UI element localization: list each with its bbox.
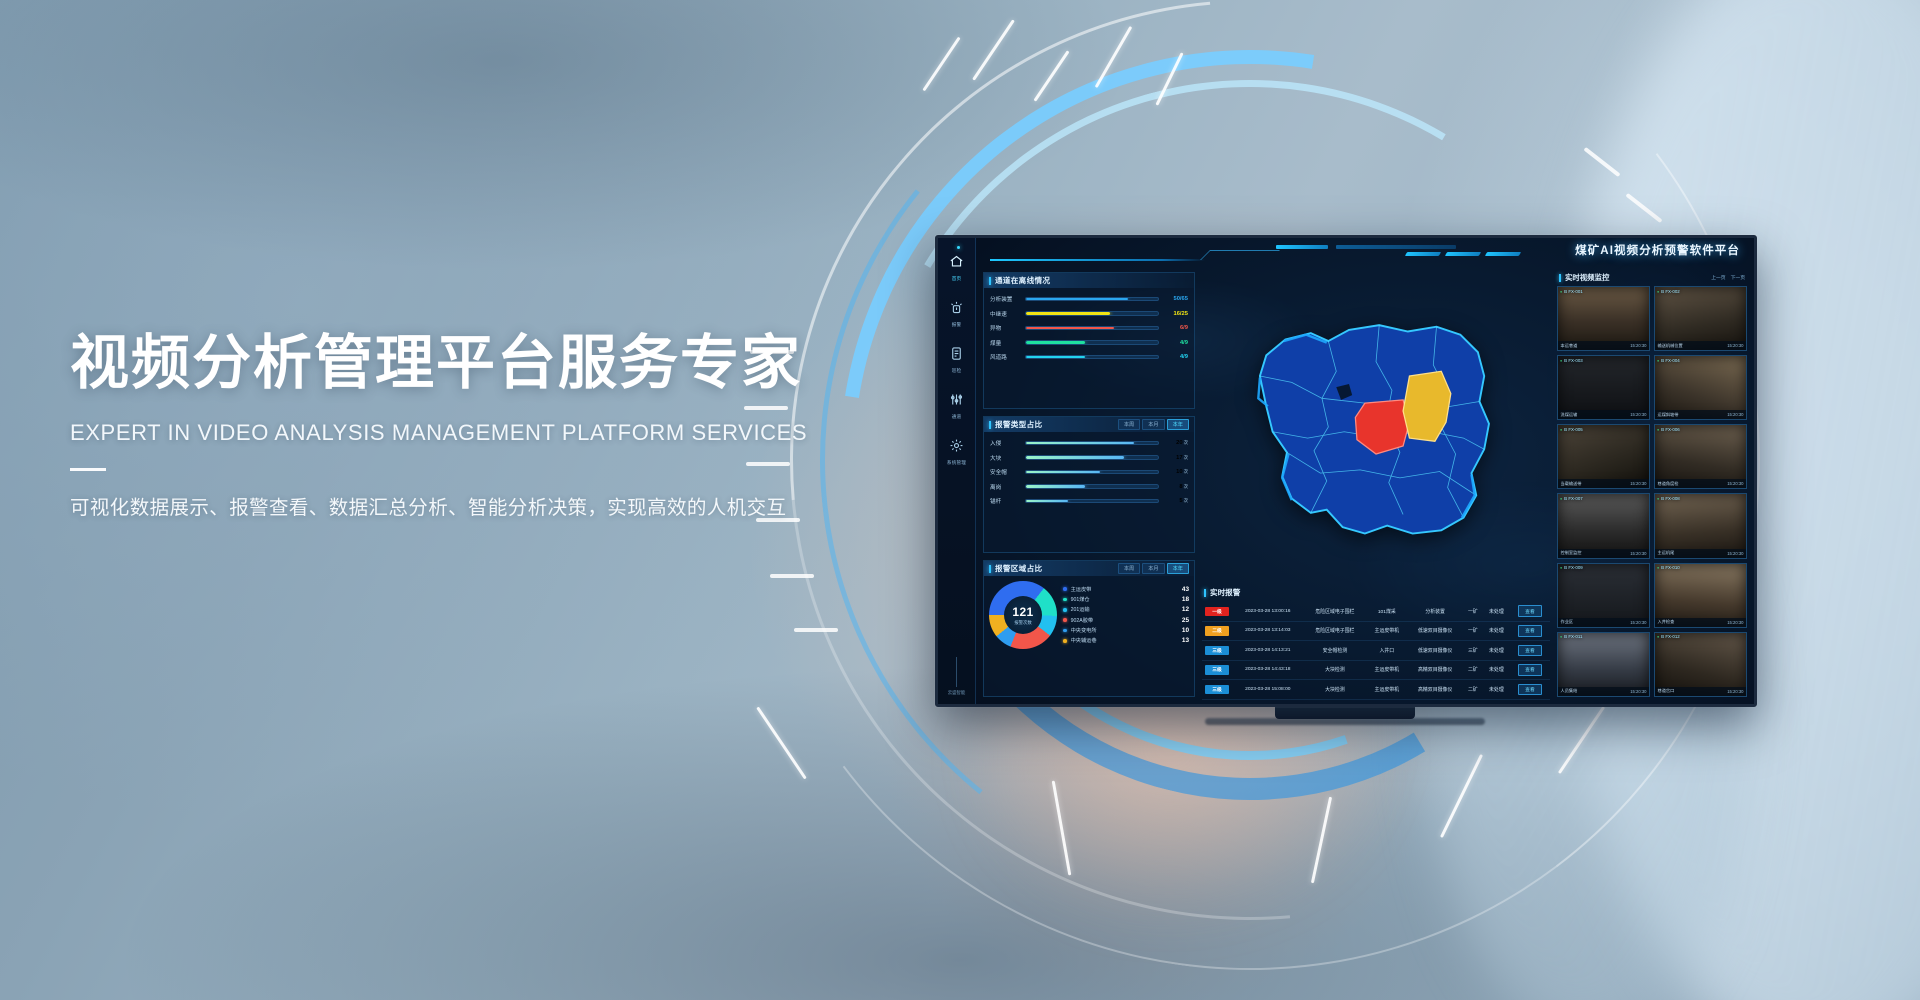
donut-legend: 主运皮带43901煤仓18201运输12902A胶带25中央变电所10中央辅运巷…	[1063, 586, 1189, 645]
camera-name: 运煤斜坡带	[1658, 412, 1679, 418]
camera-tile[interactable]: B FX-001本运巷道15:20:30	[1557, 286, 1650, 351]
legend-label: 中央辅运巷	[1071, 637, 1178, 644]
alarm-type-track	[1025, 441, 1159, 446]
legend-label: 901煤仓	[1071, 596, 1178, 603]
channel-progress-fill	[1026, 356, 1085, 359]
alarm-status-cell: 未处理	[1483, 621, 1510, 641]
alarm-area-title: 报警区域占比	[989, 563, 1042, 574]
camera-time: 15:20:30	[1630, 412, 1646, 417]
camera-tag: B FX-003	[1560, 358, 1583, 363]
channel-row-label: 异物	[990, 324, 1020, 332]
camera-name: 本运巷道	[1561, 343, 1578, 349]
alarm-grade-cell: 一矿	[1463, 602, 1483, 621]
channel-row-value: 4/9	[1164, 354, 1188, 360]
sidebar-label-alarm: 报警	[952, 322, 962, 328]
alarm-time-cell: 2023-03-28 14:13:21	[1232, 641, 1304, 661]
channel-progress-track	[1025, 311, 1159, 316]
legend-swatch	[1063, 608, 1067, 612]
table-row: 三级2023-03-28 14:43:18大块检测主运皮带机高精双目摄像仪二矿未…	[1202, 660, 1550, 680]
tab-本周[interactable]: 本周	[1118, 563, 1140, 574]
alarm-type-value: 20次	[1164, 440, 1188, 446]
camera-tag: B FX-006	[1657, 427, 1680, 432]
legend-value: 12	[1182, 606, 1189, 613]
alarm-level-cell: 二级	[1202, 621, 1232, 641]
realtime-alarm-panel: 实时报警 一级2023-03-28 13:00:16危险区域电子围栏101煤采分…	[1202, 585, 1550, 697]
view-button[interactable]: 查看	[1518, 684, 1542, 696]
legend-item: 201运输12	[1063, 606, 1189, 613]
alarm-action-cell: 查看	[1510, 680, 1550, 700]
channel-status-panel: 通道在离线情况 分析装置50/65中继速16/25异物6/9煤量4/9风道路4/…	[983, 272, 1195, 409]
channel-row-label: 分析装置	[990, 295, 1020, 303]
donut-total: 121	[1012, 605, 1033, 619]
camera-tag: B FX-009	[1560, 565, 1583, 570]
legend-swatch	[1063, 639, 1067, 643]
channel-row-value: 4/9	[1164, 340, 1188, 346]
alarm-action-cell: 查看	[1510, 641, 1550, 661]
channel-progress-fill	[1026, 341, 1085, 344]
alarm-type-row: 大块17次	[990, 454, 1188, 462]
alarm-event-cell: 危险区域电子围栏	[1304, 602, 1367, 621]
view-button[interactable]: 查看	[1518, 605, 1542, 617]
view-button[interactable]: 查看	[1518, 645, 1542, 657]
monitor-base	[1205, 718, 1485, 725]
alarm-area-donut-chart: 121 报警次数	[989, 581, 1057, 649]
map-svg	[1209, 278, 1543, 573]
alarm-type-value: 10次	[1164, 469, 1188, 475]
alarm-area-panel: 报警区域占比 本周本月本年 121 报警次数 主运皮带43901煤仓18201运…	[983, 560, 1195, 697]
camera-tag: B FX-002	[1657, 289, 1680, 294]
prev-page-button[interactable]: 上一页	[1711, 274, 1725, 281]
alarm-type-fill	[1026, 485, 1085, 488]
divider	[70, 468, 106, 471]
channel-progress-track	[1025, 355, 1159, 360]
page-description: 可视化数据展示、报警查看、数据汇总分析、智能分析决策，实现高效的人机交互	[70, 491, 930, 520]
camera-name: 输送机械位置	[1658, 343, 1683, 349]
camera-time: 15:20:30	[1630, 481, 1646, 486]
alarm-type-title: 报警类型占比	[989, 419, 1042, 430]
sidebar-footer: 云盛智能	[948, 657, 966, 696]
channel-progress-fill	[1026, 298, 1128, 301]
legend-swatch	[1063, 598, 1067, 602]
camera-time: 15:20:30	[1727, 620, 1743, 625]
home-icon	[949, 254, 964, 274]
legend-label: 中央变电所	[1071, 627, 1178, 634]
alarm-time-cell: 2023-03-28 13:14:03	[1232, 621, 1304, 641]
camera-time: 15:20:30	[1630, 551, 1646, 556]
alarm-type-track	[1025, 470, 1159, 475]
alarm-area-cell: 主运皮带机	[1366, 660, 1407, 680]
alarm-time-cell: 2023-03-28 15:08:00	[1232, 680, 1304, 700]
sidebar-item-channel[interactable]: 通道	[949, 392, 964, 420]
monitor-stand	[1275, 707, 1415, 719]
alarm-type-value: 5次	[1164, 498, 1188, 504]
alarm-area-body: 121 报警次数 主运皮带43901煤仓18201运输12902A胶带25中央变…	[984, 576, 1194, 653]
camera-name: 控制室监控	[1561, 550, 1582, 556]
alarm-icon	[949, 300, 964, 320]
alarm-type-row: 离岗8次	[990, 483, 1188, 491]
camera-name: 人员集结	[1561, 688, 1578, 694]
table-row: 三级2023-03-28 15:08:00大块检测主运皮带机高精双目摄像仪二矿未…	[1202, 680, 1550, 700]
alarm-type-fill	[1026, 456, 1124, 459]
legend-label: 201运输	[1071, 606, 1178, 613]
alarm-status-cell: 未处理	[1483, 602, 1510, 621]
status-badge: 二级	[1205, 626, 1229, 635]
alarm-status-cell: 未处理	[1483, 680, 1510, 700]
hero-copy: 视频分析管理平台服务专家 EXPERT IN VIDEO ANALYSIS MA…	[70, 330, 930, 520]
channel-progress-track	[1025, 326, 1159, 331]
channel-row: 风道路4/9	[990, 353, 1188, 361]
alarm-event-cell: 安全帽检测	[1304, 641, 1367, 661]
channel-row-label: 风道路	[990, 353, 1020, 361]
channel-progress-track	[1025, 297, 1159, 302]
sidebar-item-system[interactable]: 系统管理	[947, 438, 966, 466]
camera-tile[interactable]: B FX-008主运机尾15:20:30	[1654, 493, 1747, 558]
legend-item: 主运皮带43	[1063, 586, 1189, 593]
panel-header: 报警区域占比 本周本月本年	[984, 561, 1194, 576]
inspection-icon	[949, 346, 964, 366]
alarm-area-cell: 主运皮带机	[1366, 680, 1407, 700]
camera-time: 15:20:30	[1727, 689, 1743, 694]
alarm-type-track	[1025, 499, 1159, 504]
legend-value: 10	[1182, 627, 1189, 634]
camera-tile[interactable]: B FX-002输送机械位置15:20:30	[1654, 286, 1747, 351]
sidebar-item-alarm[interactable]: 报警	[949, 300, 964, 328]
sidebar-label-channel: 通道	[952, 414, 962, 420]
camera-name: 入井检查	[1658, 619, 1675, 625]
legend-value: 25	[1182, 617, 1189, 624]
realtime-alarm-title: 实时报警	[1202, 585, 1550, 602]
right-column: 实时视频监控 上一页 下一页 B FX-001本运巷道15:20:30B FX-…	[1557, 272, 1747, 697]
camera-name: 主运机尾	[1658, 550, 1675, 556]
alarm-type-panel: 报警类型占比 本周本月本年 入侵20次大块17次安全帽10次离岗8次锚杆5次	[983, 416, 1195, 553]
video-panel-header: 实时视频监控 上一页 下一页	[1557, 272, 1747, 286]
camera-tile[interactable]: B FX-012巷道岔口15:20:30	[1654, 632, 1747, 697]
channel-panel-title: 通道在离线情况	[989, 275, 1050, 286]
camera-time: 15:20:30	[1630, 620, 1646, 625]
alarm-type-fill	[1026, 500, 1068, 503]
alarm-device-cell: 低速双目摄像仪	[1407, 621, 1462, 641]
sidebar-footer-label: 云盛智能	[948, 690, 966, 696]
status-badge: 三级	[1205, 665, 1229, 674]
alarm-grade-cell: 二矿	[1463, 680, 1483, 700]
alarm-type-label: 安全帽	[990, 468, 1020, 476]
camera-tag: B FX-001	[1560, 289, 1583, 294]
camera-tile[interactable]: B FX-005当载输送带15:20:30	[1557, 424, 1650, 489]
alarm-level-cell: 一级	[1202, 602, 1232, 621]
legend-item: 902A胶带25	[1063, 617, 1189, 624]
dashboard-screen: 首页 报警 巡检 通道 系统管理 云盛智能	[938, 238, 1754, 704]
table-row: 三级2023-03-28 14:13:21安全帽检测入井口低速双目摄像仪三矿未处…	[1202, 641, 1550, 661]
panel-header: 报警类型占比 本周本月本年	[984, 417, 1194, 432]
legend-label: 主运皮带	[1071, 586, 1178, 593]
alarm-device-cell: 分析装置	[1407, 602, 1462, 621]
alarm-type-row: 安全帽10次	[990, 468, 1188, 476]
sidebar-label-inspection: 巡检	[952, 368, 962, 374]
alarm-type-value: 8次	[1164, 484, 1188, 490]
camera-tag: B FX-007	[1560, 496, 1583, 501]
camera-tile[interactable]: B FX-011人员集结15:20:30	[1557, 632, 1650, 697]
alarm-event-cell: 大块检测	[1304, 660, 1367, 680]
alarm-area-tabs[interactable]: 本周本月本年	[1118, 563, 1189, 574]
alarm-type-label: 入侵	[990, 439, 1020, 447]
channel-progress-fill	[1026, 327, 1114, 330]
camera-time: 15:20:30	[1727, 412, 1743, 417]
center-column: 实时报警 一级2023-03-28 13:00:16危险区域电子围栏101煤采分…	[1202, 272, 1550, 697]
camera-tag: B FX-010	[1657, 565, 1680, 570]
page-title: 视频分析管理平台服务专家	[70, 330, 930, 398]
channel-row-value: 16/25	[1164, 311, 1188, 317]
channel-progress-track	[1025, 340, 1159, 345]
camera-tag: B FX-004	[1657, 358, 1680, 363]
alarm-table: 一级2023-03-28 13:00:16危险区域电子围栏101煤采分析装置一矿…	[1202, 602, 1550, 700]
alarm-device-cell: 高精双目摄像仪	[1407, 660, 1462, 680]
channel-row-value: 50/65	[1164, 296, 1188, 302]
alarm-grade-cell: 三矿	[1463, 641, 1483, 661]
sidebar-label-system: 系统管理	[947, 460, 966, 466]
sidebar-item-home[interactable]: 首页	[949, 254, 964, 282]
alarm-grade-cell: 二矿	[1463, 660, 1483, 680]
donut-caption: 报警次数	[1014, 620, 1032, 626]
alarm-area-cell: 101煤采	[1366, 602, 1407, 621]
camera-tile[interactable]: B FX-010入井检查15:20:30	[1654, 563, 1747, 628]
alarm-action-cell: 查看	[1510, 602, 1550, 621]
legend-label: 902A胶带	[1071, 617, 1178, 624]
legend-value: 43	[1182, 586, 1189, 593]
alarm-device-cell: 低速双目摄像仪	[1407, 641, 1462, 661]
camera-time: 15:20:30	[1727, 551, 1743, 556]
camera-time: 15:20:30	[1727, 481, 1743, 486]
alarm-type-tabs[interactable]: 本周本月本年	[1118, 419, 1189, 430]
status-dot	[957, 246, 960, 249]
video-panel-title: 实时视频监控	[1559, 272, 1609, 283]
alarm-type-label: 大块	[990, 454, 1020, 462]
legend-item: 中央变电所10	[1063, 627, 1189, 634]
channel-row: 煤量4/9	[990, 339, 1188, 347]
gear-icon	[949, 438, 964, 458]
tab-本月[interactable]: 本月	[1142, 563, 1164, 574]
alarm-time-cell: 2023-03-28 14:43:18	[1232, 660, 1304, 680]
alarm-status-cell: 未处理	[1483, 641, 1510, 661]
camera-time: 15:20:30	[1630, 689, 1646, 694]
status-badge: 三级	[1205, 685, 1229, 694]
legend-item: 901煤仓18	[1063, 596, 1189, 603]
alarm-action-cell: 查看	[1510, 621, 1550, 641]
tab-本年[interactable]: 本年	[1167, 419, 1189, 430]
channel-row: 分析装置50/65	[990, 295, 1188, 303]
camera-tile[interactable]: B FX-006巷道角度检15:20:30	[1654, 424, 1747, 489]
tab-本周[interactable]: 本周	[1118, 419, 1140, 430]
alarm-event-cell: 危险区域电子围栏	[1304, 621, 1367, 641]
status-badge: 一级	[1205, 607, 1229, 616]
camera-tile[interactable]: B FX-007控制室监控15:20:30	[1557, 493, 1650, 558]
legend-item: 中央辅运巷13	[1063, 637, 1189, 644]
camera-time: 15:20:30	[1630, 343, 1646, 348]
alarm-type-fill	[1026, 442, 1134, 445]
channel-row: 异物6/9	[990, 324, 1188, 332]
alarm-area-cell: 主运皮带机	[1366, 621, 1407, 641]
tab-本年[interactable]: 本年	[1167, 563, 1189, 574]
dashboard-title: 煤矿AI视频分析预警软件平台	[1575, 242, 1740, 258]
alarm-type-row: 入侵20次	[990, 439, 1188, 447]
legend-value: 18	[1182, 596, 1189, 603]
alarm-type-rows: 入侵20次大块17次安全帽10次离岗8次锚杆5次	[984, 432, 1194, 509]
channel-row-label: 煤量	[990, 339, 1020, 347]
table-row: 二级2023-03-28 13:14:03危险区域电子围栏主运皮带机低速双目摄像…	[1202, 621, 1550, 641]
alarm-device-cell: 高精双目摄像仪	[1407, 680, 1462, 700]
alarm-level-cell: 三级	[1202, 660, 1232, 680]
legend-swatch	[1063, 629, 1067, 633]
camera-tag: B FX-005	[1560, 427, 1583, 432]
camera-tag: B FX-008	[1657, 496, 1680, 501]
camera-tag: B FX-012	[1657, 634, 1680, 639]
channel-row: 中继速16/25	[990, 310, 1188, 318]
view-button[interactable]: 查看	[1518, 625, 1542, 637]
channel-rows: 分析装置50/65中继速16/25异物6/9煤量4/9风道路4/9	[984, 288, 1194, 365]
next-page-button[interactable]: 下一页	[1731, 274, 1745, 281]
channel-icon	[949, 392, 964, 412]
alarm-time-cell: 2023-03-28 13:00:16	[1232, 602, 1304, 621]
legend-swatch	[1063, 587, 1067, 591]
alarm-type-label: 锚杆	[990, 497, 1020, 505]
channel-row-label: 中继速	[990, 310, 1020, 318]
alarm-type-track	[1025, 484, 1159, 489]
camera-name: 作业区	[1561, 619, 1574, 625]
legend-swatch	[1063, 618, 1067, 622]
camera-time: 15:20:30	[1727, 343, 1743, 348]
view-button[interactable]: 查看	[1518, 664, 1542, 676]
camera-name: 巷道角度检	[1658, 481, 1679, 487]
channel-row-value: 6/9	[1164, 325, 1188, 331]
sidebar-item-inspection[interactable]: 巡检	[949, 346, 964, 374]
alarm-level-cell: 三级	[1202, 641, 1232, 661]
sidebar-label-home: 首页	[952, 276, 962, 282]
alarm-type-label: 离岗	[990, 483, 1020, 491]
left-column: 通道在离线情况 分析装置50/65中继速16/25异物6/9煤量4/9风道路4/…	[983, 272, 1195, 697]
camera-tile[interactable]: B FX-004运煤斜坡带15:20:30	[1654, 355, 1747, 420]
alarm-area-cell: 入井口	[1366, 641, 1407, 661]
legend-value: 13	[1182, 637, 1189, 644]
video-grid: B FX-001本运巷道15:20:30B FX-002输送机械位置15:20:…	[1557, 286, 1747, 697]
panel-header: 通道在离线情况	[984, 273, 1194, 288]
dashboard-main: 通道在离线情况 分析装置50/65中继速16/25异物6/9煤量4/9风道路4/…	[976, 238, 1754, 704]
channel-progress-fill	[1026, 312, 1110, 315]
table-row: 一级2023-03-28 13:00:16危险区域电子围栏101煤采分析装置一矿…	[1202, 602, 1550, 621]
camera-name: 巷道岔口	[1658, 688, 1675, 694]
alarm-type-value: 17次	[1164, 455, 1188, 461]
alarm-action-cell: 查看	[1510, 660, 1550, 680]
camera-name: 当载输送带	[1561, 481, 1582, 487]
page-subtitle: EXPERT IN VIDEO ANALYSIS MANAGEMENT PLAT…	[70, 420, 930, 446]
sidebar: 首页 报警 巡检 通道 系统管理 云盛智能	[938, 238, 976, 704]
topbar: 煤矿AI视频分析预警软件平台	[976, 238, 1754, 272]
region-map[interactable]	[1202, 272, 1550, 579]
camera-tile[interactable]: B FX-009作业区15:20:30	[1557, 563, 1650, 628]
alarm-level-cell: 三级	[1202, 680, 1232, 700]
tab-本月[interactable]: 本月	[1142, 419, 1164, 430]
alarm-status-cell: 未处理	[1483, 660, 1510, 680]
camera-tile[interactable]: B FX-003洗煤运输15:20:30	[1557, 355, 1650, 420]
alarm-event-cell: 大块检测	[1304, 680, 1367, 700]
status-badge: 三级	[1205, 646, 1229, 655]
camera-tag: B FX-011	[1560, 634, 1582, 639]
monitor-bezel: 首页 报警 巡检 通道 系统管理 云盛智能	[935, 235, 1757, 707]
alarm-type-track	[1025, 455, 1159, 460]
alarm-grade-cell: 一矿	[1463, 621, 1483, 641]
camera-name: 洗煤运输	[1561, 412, 1578, 418]
alarm-type-fill	[1026, 471, 1100, 474]
alarm-type-row: 锚杆5次	[990, 497, 1188, 505]
